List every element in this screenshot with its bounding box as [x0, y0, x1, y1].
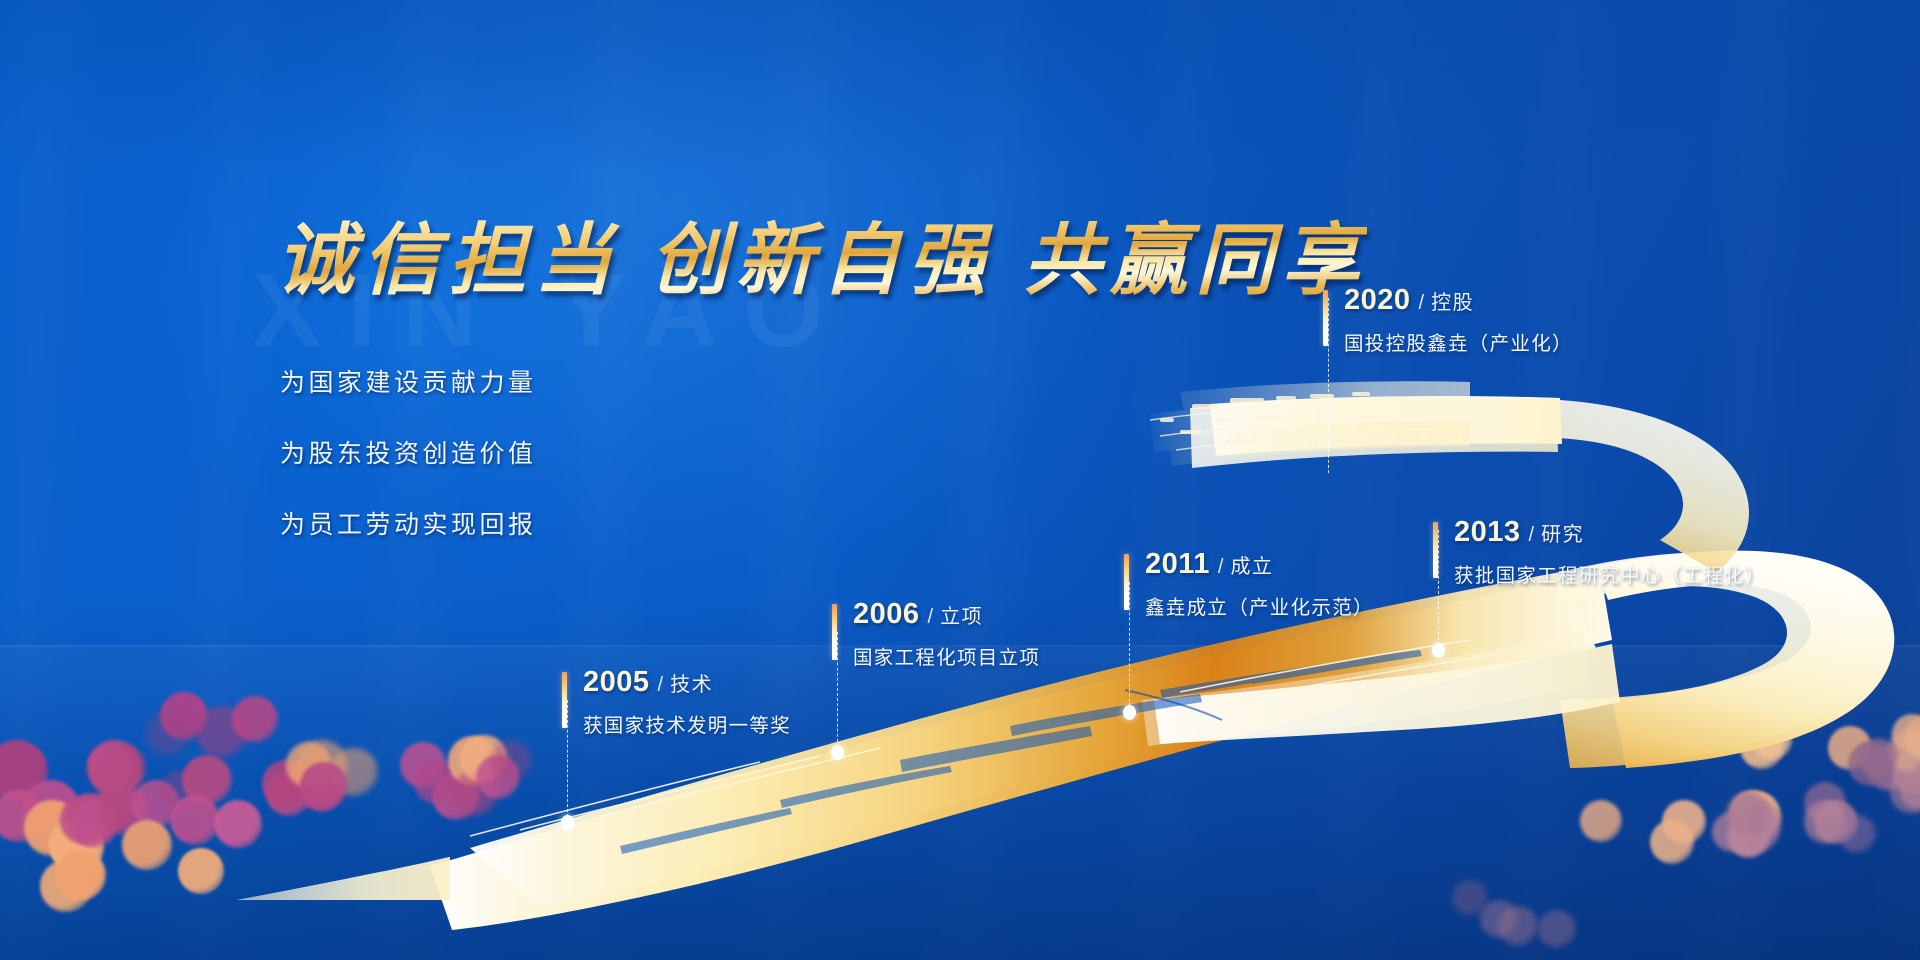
marker-year-row-2020: 2020 / 控股 — [1344, 284, 1573, 317]
subtitle-line-1: 为国家建设贡献力量 — [280, 363, 537, 399]
marker-category-2005: 技术 — [670, 668, 713, 697]
marker-text-2011: 2011 / 成立 鑫垚成立（产业化示范） — [1145, 548, 1374, 620]
marker-category-2011: 成立 — [1230, 550, 1273, 579]
marker-year-row-2005: 2005 / 技术 — [583, 666, 791, 699]
marker-year-2020: 2020 — [1344, 284, 1411, 317]
marker-accent-bar-2005 — [562, 672, 567, 728]
marker-category-2013: 研究 — [1541, 518, 1584, 547]
marker-category-2006: 立项 — [940, 600, 983, 629]
marker-year-2005: 2005 — [583, 666, 650, 699]
marker-accent-bar-2006 — [832, 604, 837, 660]
marker-year-row-2006: 2006 / 立项 — [853, 598, 1040, 631]
marker-description-2006: 国家工程化项目立项 — [853, 641, 1040, 670]
marker-year-2011: 2011 — [1145, 548, 1210, 581]
marker-separator-2005: / — [658, 674, 664, 697]
marker-separator-2020: / — [1419, 292, 1425, 315]
subtitle-line-3: 为员工劳动实现回报 — [280, 505, 537, 541]
leader-line-2020 — [1328, 298, 1329, 473]
marker-description-2020: 国投控股鑫垚（产业化） — [1344, 327, 1573, 356]
leader-dot-2013 — [1432, 643, 1445, 658]
leader-line-2013 — [1438, 530, 1439, 650]
leader-line-2011 — [1129, 582, 1130, 712]
marker-text-2006: 2006 / 立项 国家工程化项目立项 — [853, 598, 1040, 670]
marker-accent-bar-2013 — [1433, 522, 1438, 578]
marker-text-2005: 2005 / 技术 获国家技术发明一等奖 — [583, 666, 791, 738]
page-title: 诚信担当 创新自强 共赢同享 — [276, 198, 1367, 310]
marker-separator-2011: / — [1218, 556, 1224, 579]
marker-text-2013: 2013 / 研究 获批国家工程研究中心（工程化） — [1454, 516, 1766, 588]
leader-dot-2005 — [561, 815, 574, 830]
marker-description-2005: 获国家技术发明一等奖 — [583, 709, 791, 738]
marker-year-2013: 2013 — [1454, 516, 1521, 549]
leader-line-2006 — [837, 632, 838, 752]
marker-accent-bar-2020 — [1323, 290, 1328, 346]
subtitle-line-2: 为股东投资创造价值 — [280, 434, 537, 470]
marker-description-2013: 获批国家工程研究中心（工程化） — [1454, 559, 1766, 588]
marker-accent-bar-2011 — [1124, 554, 1129, 610]
marker-separator-2013: / — [1529, 524, 1535, 547]
marker-year-row-2013: 2013 / 研究 — [1454, 516, 1766, 549]
subtitle-list: 为国家建设贡献力量 为股东投资创造价值 为员工劳动实现回报 — [280, 363, 537, 576]
leader-dot-2006 — [831, 745, 844, 760]
marker-year-row-2011: 2011 / 成立 — [1145, 548, 1374, 581]
marker-separator-2006: / — [928, 606, 934, 629]
banner-stage: XIN YAO 诚信担当 创新自强 共赢同享 为国家建设贡献力量 为股东投资创造… — [0, 0, 1920, 960]
ribbon-tail-left — [58, 852, 478, 958]
leader-dot-2011 — [1123, 705, 1136, 720]
marker-year-2006: 2006 — [853, 598, 920, 631]
marker-category-2020: 控股 — [1431, 286, 1474, 315]
marker-description-2011: 鑫垚成立（产业化示范） — [1145, 591, 1374, 620]
marker-text-2020: 2020 / 控股 国投控股鑫垚（产业化） — [1344, 284, 1573, 356]
leader-line-2005 — [567, 700, 568, 822]
